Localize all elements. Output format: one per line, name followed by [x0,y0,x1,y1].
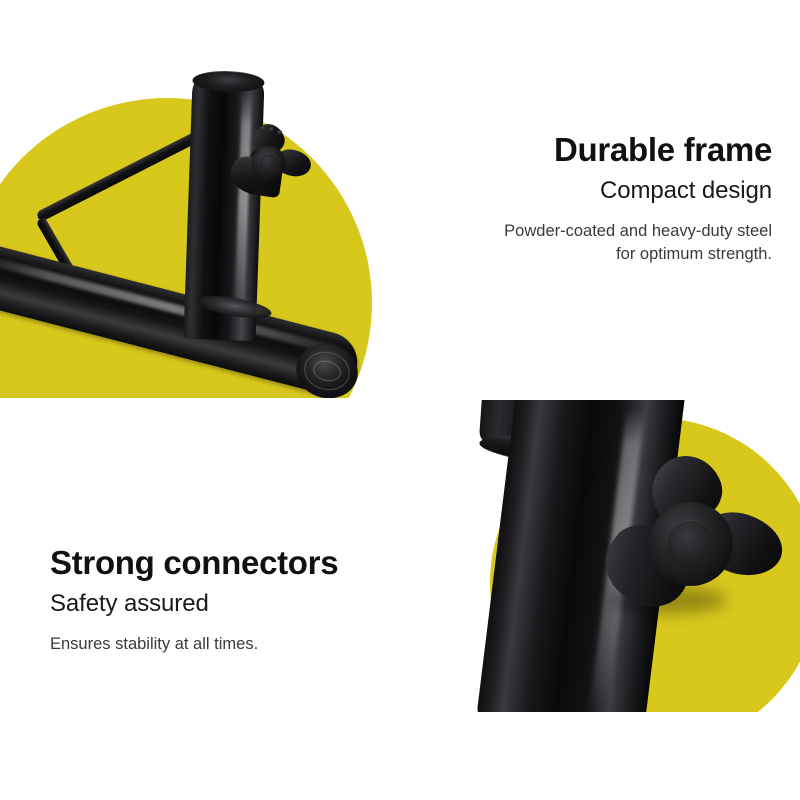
knob-hub [252,146,286,180]
connector-knob-photo [435,400,800,712]
knob-stud-3 [277,130,282,135]
durable-frame-text-panel: Durable frame Compact design Powder-coat… [420,0,780,398]
durable-frame-subheading: Compact design [600,176,772,206]
strong-connectors-text-panel: Strong connectors Safety assured Ensures… [50,402,390,800]
clamp-knob-icon [228,126,312,204]
durable-frame-body: Powder-coated and heavy-duty steel for o… [482,220,772,267]
product-feature-collage: Durable frame Compact design Powder-coat… [0,0,800,800]
frame-joint-photo [0,0,400,398]
knob-hub [649,502,733,586]
clamp-knob-icon [603,462,783,632]
frame-joint-photo-panel [0,0,400,398]
strong-connectors-heading: Strong connectors [50,545,338,582]
durable-frame-heading: Durable frame [554,132,772,169]
strong-connectors-body: Ensures stability at all times. [50,633,258,656]
strong-connectors-subheading: Safety assured [50,589,209,619]
knob-stud-1 [261,126,266,131]
knob-stud-2 [269,127,274,132]
connector-knob-photo-panel [435,400,800,712]
